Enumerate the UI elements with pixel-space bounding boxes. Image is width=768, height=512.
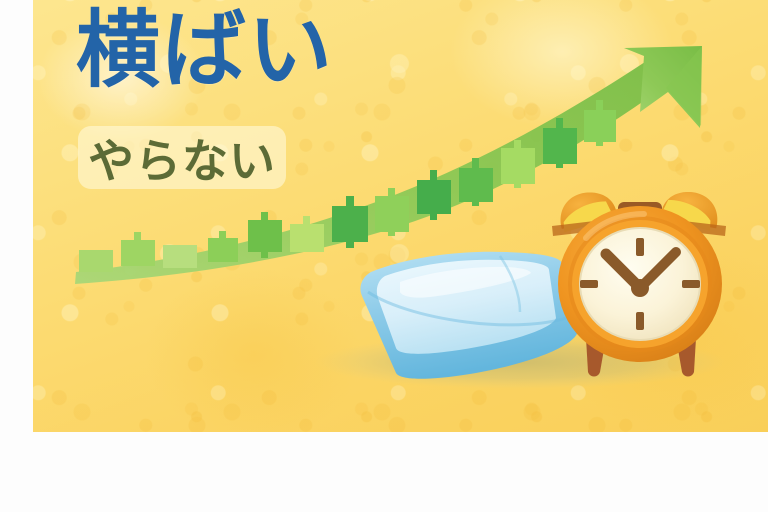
page-title: 横ばい [76, 6, 334, 94]
illustration-canvas: 横ばい やらない [0, 0, 768, 512]
subtitle-label: やらない [88, 125, 276, 191]
subtitle-chip: やらない [78, 126, 286, 189]
